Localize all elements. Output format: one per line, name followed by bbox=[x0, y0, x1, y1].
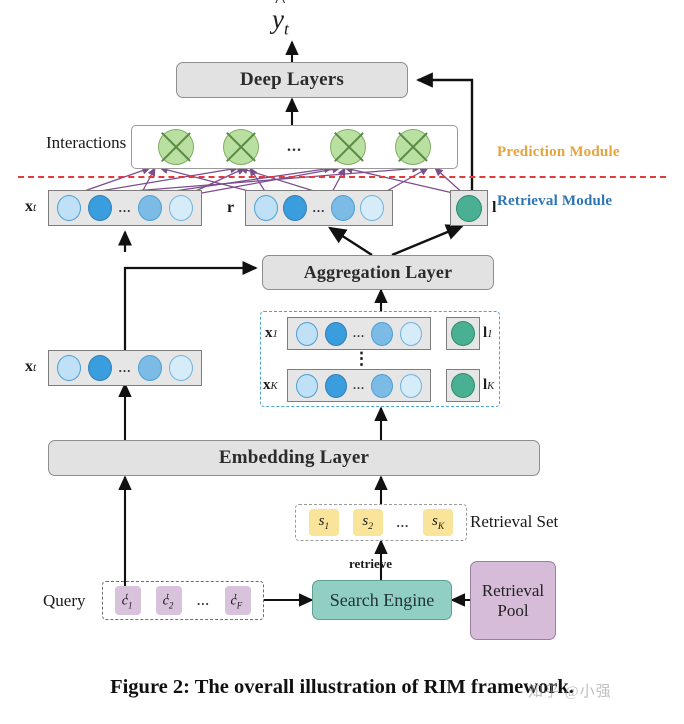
vector-ellipsis: ... bbox=[353, 378, 365, 393]
label-cell bbox=[456, 195, 482, 222]
embedding-cell bbox=[88, 355, 112, 381]
embedding-layer-block[interactable]: Embedding Layer bbox=[48, 440, 540, 476]
retrieval-set-item-k[interactable]: sK bbox=[423, 509, 453, 536]
vector-r: ... bbox=[245, 190, 393, 226]
retrieval-pool-block[interactable]: Retrieval Pool bbox=[470, 561, 556, 640]
vector-label-lK: lK bbox=[483, 377, 494, 394]
embedding-cell bbox=[138, 355, 162, 381]
retrieval-module-label: Retrieval Module bbox=[497, 193, 612, 210]
retrieval-set-item-2[interactable]: s2 bbox=[353, 509, 383, 536]
vector-ellipsis: ... bbox=[119, 200, 132, 216]
label-cell bbox=[451, 373, 475, 398]
vector-ellipsis: ... bbox=[353, 326, 365, 341]
embedding-cell bbox=[360, 195, 384, 221]
interaction-node-4[interactable] bbox=[395, 129, 431, 165]
figure-canvas: ^ yt Deep Layers Interactions ... Predic… bbox=[0, 0, 684, 724]
retrieval-set-ellipsis: ... bbox=[397, 515, 410, 531]
deep-layers-block[interactable]: Deep Layers bbox=[176, 62, 408, 98]
label-vector-lK bbox=[446, 369, 480, 402]
search-engine-block[interactable]: Search Engine bbox=[312, 580, 452, 620]
embedding-cell bbox=[88, 195, 112, 221]
embedding-cell bbox=[371, 322, 393, 346]
vector-ellipsis: ... bbox=[119, 360, 132, 376]
vector-label-l1: l1 bbox=[483, 325, 493, 342]
embedding-cell bbox=[296, 374, 318, 398]
embedding-cell bbox=[138, 195, 162, 221]
vector-xt-bottom: ... bbox=[48, 350, 202, 386]
vector-label-xK: xK bbox=[263, 377, 278, 394]
query-ellipsis: ... bbox=[197, 593, 210, 609]
aggregation-layer-block[interactable]: Aggregation Layer bbox=[262, 255, 494, 290]
vector-xK: ... bbox=[287, 369, 431, 402]
retrieval-set-item-1[interactable]: s1 bbox=[309, 509, 339, 536]
vector-label-l: l bbox=[492, 199, 496, 217]
embedding-cell bbox=[169, 195, 193, 221]
interaction-node-3[interactable] bbox=[330, 129, 366, 165]
output-prediction-label: ^ yt bbox=[272, 4, 289, 39]
vector-ellipsis: ... bbox=[313, 200, 326, 216]
prediction-module-label: Prediction Module bbox=[497, 144, 620, 161]
interaction-node-1[interactable] bbox=[158, 129, 194, 165]
interactions-box: ... bbox=[131, 125, 458, 169]
label-vector-l1 bbox=[446, 317, 480, 350]
interactions-label: Interactions bbox=[46, 133, 126, 153]
label-cell bbox=[451, 321, 475, 346]
candidates-vertical-ellipsis: ⋮ bbox=[353, 349, 370, 369]
embedding-cell bbox=[325, 374, 347, 398]
query-field-1[interactable]: c1t bbox=[115, 586, 141, 615]
query-field-2[interactable]: c2t bbox=[156, 586, 182, 615]
retrieval-pool-line-1: Retrieval bbox=[482, 581, 544, 600]
module-divider-line bbox=[18, 176, 666, 178]
embedding-cell bbox=[371, 374, 393, 398]
query-field-f[interactable]: cFt bbox=[225, 586, 251, 615]
label-vector-l bbox=[450, 190, 488, 226]
embedding-cell bbox=[254, 195, 278, 221]
zhihu-watermark: 知乎 @小强 bbox=[528, 680, 612, 701]
vector-x1: ... bbox=[287, 317, 431, 350]
embedding-cell bbox=[331, 195, 355, 221]
retrieval-pool-line-2: Pool bbox=[497, 601, 528, 620]
embedding-cell bbox=[283, 195, 307, 221]
output-subscript: t bbox=[284, 19, 289, 38]
embedding-cell bbox=[57, 355, 81, 381]
embedding-cell bbox=[325, 322, 347, 346]
retrieval-set-container: s1 s2 ... sK bbox=[295, 504, 467, 541]
embedding-cell bbox=[296, 322, 318, 346]
query-container: c1t c2t ... cFt bbox=[102, 581, 264, 620]
retrieval-set-label: Retrieval Set bbox=[470, 512, 558, 532]
vector-label-xt-bottom: xt bbox=[25, 358, 36, 376]
vector-label-r: r bbox=[227, 199, 234, 217]
embedding-cell bbox=[57, 195, 81, 221]
embedding-cell bbox=[400, 374, 422, 398]
embedding-cell bbox=[400, 322, 422, 346]
interaction-node-2[interactable] bbox=[223, 129, 259, 165]
output-hat-accent: ^ bbox=[275, 0, 285, 13]
vector-label-xt-top: xt bbox=[25, 198, 36, 216]
retrieve-edge-label: retrieve bbox=[349, 556, 392, 572]
query-label: Query bbox=[43, 591, 85, 611]
embedding-cell bbox=[169, 355, 193, 381]
vector-xt-top: ... bbox=[48, 190, 202, 226]
interactions-ellipsis: ... bbox=[287, 138, 302, 156]
vector-label-x1: x1 bbox=[265, 325, 278, 342]
